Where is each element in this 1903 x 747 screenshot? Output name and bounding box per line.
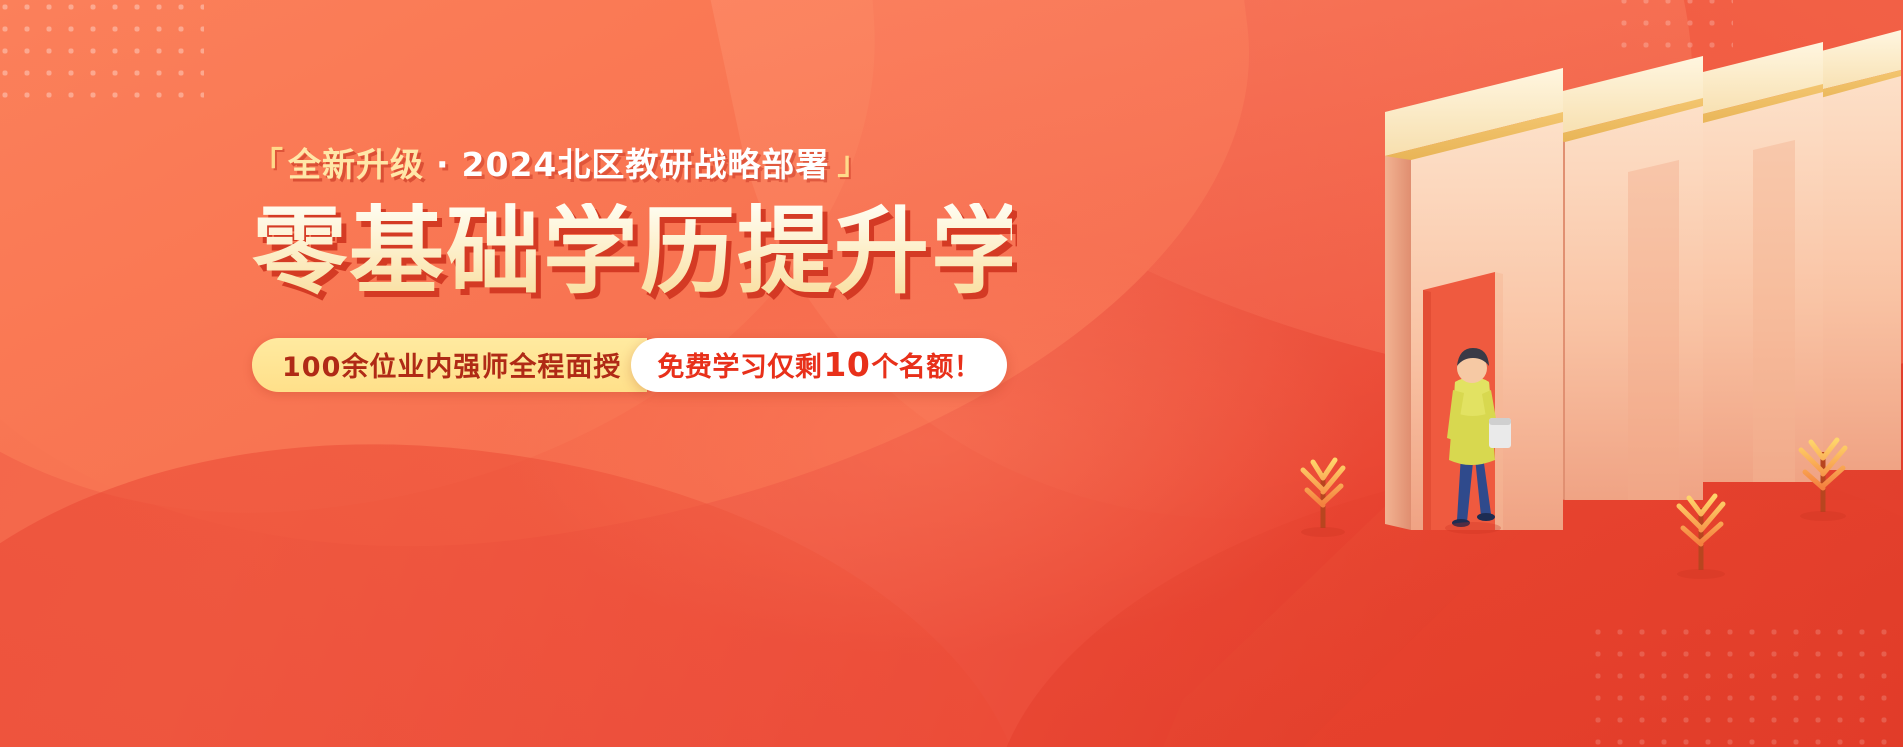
wave-shape-bottom-left — [0, 398, 1057, 747]
subtitle-gold-text: 全新升级 — [288, 148, 424, 181]
banner-headline: 零基础学历提升学霸班 — [252, 203, 1012, 302]
pill-free-slots-prefix: 免费学习仅剩 — [657, 345, 822, 384]
pill-free-slots-suffix: 个名额！ — [871, 345, 981, 384]
bracket-open-icon: 「 — [252, 149, 284, 180]
pill-instructors[interactable]: 100余位业内强师全程面授 — [252, 338, 647, 392]
pill-free-slots-count: 10 — [823, 348, 870, 381]
books-archway-illustration — [1123, 0, 1903, 747]
pill-free-slots[interactable]: 免费学习仅剩 10 个名额！ — [631, 338, 1007, 392]
subtitle-white-text: 2024北区教研战略部署 — [462, 148, 830, 181]
dot-pattern-top-left — [0, 0, 204, 108]
banner-text-block: 「 全新升级 · 2024北区教研战略部署 」 零基础学历提升学霸班 100余位… — [252, 148, 1012, 392]
bracket-close-icon: 」 — [837, 149, 869, 180]
banner-subtitle: 「 全新升级 · 2024北区教研战略部署 」 — [252, 148, 1012, 181]
pill-instructors-label: 100余位业内强师全程面授 — [282, 345, 621, 384]
promo-banner: 「 全新升级 · 2024北区教研战略部署 」 零基础学历提升学霸班 100余位… — [0, 0, 1903, 747]
subtitle-separator-dot: · — [436, 148, 450, 181]
banner-pill-row: 100余位业内强师全程面授 免费学习仅剩 10 个名额！ — [252, 338, 1012, 392]
tree-left — [1301, 460, 1345, 537]
book-arch-2 — [1543, 56, 1703, 500]
